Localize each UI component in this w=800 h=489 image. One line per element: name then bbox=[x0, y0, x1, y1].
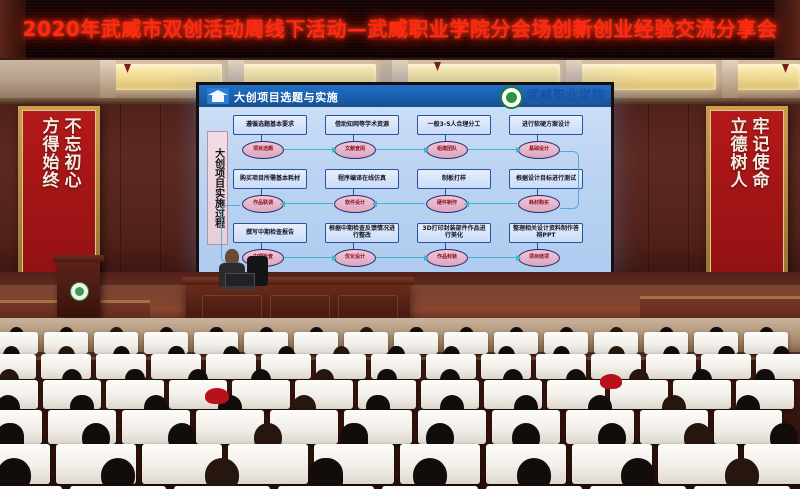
flow-row: 购买项目所需基本耗材作品联调程序编译在线仿真软件设计制板打样硬件制作根据设计目标… bbox=[233, 169, 605, 221]
flow-node: 借助知网等学术资源文献查阅 bbox=[325, 115, 399, 135]
audience-seat bbox=[206, 354, 256, 379]
flow-node: 3D打印封装部件作品进行美化作品封装 bbox=[417, 223, 491, 243]
slide-body: 大创项目实施过程 遵循选题基本要求项目选题借助知网等学术资源文献查阅一般3-5人… bbox=[199, 107, 611, 275]
podium-top bbox=[53, 255, 104, 262]
audience-member bbox=[101, 458, 135, 489]
flow-node: 一般3-5人合理分工组建团队 bbox=[417, 115, 491, 135]
flow-node: 遵循选题基本要求项目选题 bbox=[233, 115, 307, 135]
flow-node-stage: 耗材购买 bbox=[518, 195, 560, 213]
flow-node-box: 一般3-5人合理分工 bbox=[417, 115, 491, 135]
audience-seat bbox=[294, 332, 338, 354]
flow-node: 制板打样硬件制作 bbox=[417, 169, 491, 189]
college-name-en: WUWEI OCCUPATIONAL COLLEGE bbox=[527, 102, 605, 105]
projection-screen: 大创项目选题与实施 武威职业学院 WUWEI OCCUPATIONAL COLL… bbox=[196, 82, 614, 278]
flow-arrow bbox=[284, 257, 333, 258]
flow-node: 购买项目所需基本耗材作品联调 bbox=[233, 169, 307, 189]
flow-node: 根据中期检查反馈情况进行整改优化设计 bbox=[325, 223, 399, 243]
flow-wrap-connector-right bbox=[560, 151, 579, 209]
audience-member-red-bow bbox=[600, 374, 622, 389]
flow-node-box: 遵循选题基本要求 bbox=[233, 115, 307, 135]
flow-node-box: 进行软硬方案设计 bbox=[509, 115, 583, 135]
flow-node-box: 3D打印封装部件作品进行美化 bbox=[417, 223, 491, 243]
flow-node-stage: 优化设计 bbox=[334, 249, 376, 267]
flow-node-stage: 基础设计 bbox=[518, 141, 560, 159]
flow-row: 遵循选题基本要求项目选题借助知网等学术资源文献查阅一般3-5人合理分工组建团队进… bbox=[233, 115, 605, 167]
flow-node-box: 借助知网等学术资源 bbox=[325, 115, 399, 135]
led-banner-text: 2020年武威市双创活动周线下活动—武威职业学院分会场创新创业经验交流分享会 bbox=[0, 13, 800, 42]
ceiling-light-panel bbox=[730, 64, 800, 90]
flow-node: 进行软硬方案设计基础设计 bbox=[509, 115, 583, 135]
audience-member bbox=[517, 458, 551, 489]
flow-node-box: 制板打样 bbox=[417, 169, 491, 189]
flow-arrow bbox=[468, 257, 517, 258]
college-seal-icon bbox=[500, 86, 523, 109]
led-banner: 2020年武威市双创活动周线下活动—武威职业学院分会场创新创业经验交流分享会 bbox=[0, 0, 800, 60]
slide-header-bar: 大创项目选题与实施 武威职业学院 WUWEI OCCUPATIONAL COLL… bbox=[199, 85, 611, 107]
flow-node: 程序编译在线仿真软件设计 bbox=[325, 169, 399, 189]
audience-seat bbox=[646, 354, 696, 379]
graduation-cap-icon bbox=[207, 88, 229, 104]
flow-node-stage: 作品封装 bbox=[426, 249, 468, 267]
flow-node-stage: 项目选题 bbox=[242, 141, 284, 159]
audience-area bbox=[0, 318, 800, 489]
college-logo: 武威职业学院 WUWEI OCCUPATIONAL COLLEGE bbox=[500, 86, 605, 109]
slide-title: 大创项目选题与实施 bbox=[234, 89, 338, 105]
flow-node-stage: 硬件制作 bbox=[426, 195, 468, 213]
flow-node-box: 撰写中期检查报告 bbox=[233, 223, 307, 243]
flow-node-stage: 文献查阅 bbox=[334, 141, 376, 159]
audience-seat bbox=[344, 332, 388, 354]
flow-node-box: 购买项目所需基本耗材 bbox=[233, 169, 307, 189]
audience-member bbox=[621, 458, 655, 489]
flow-arrow bbox=[284, 149, 333, 150]
process-flowchart: 遵循选题基本要求项目选题借助知网等学术资源文献查阅一般3-5人合理分工组建团队进… bbox=[233, 113, 605, 271]
presentation-slide: 大创项目选题与实施 武威职业学院 WUWEI OCCUPATIONAL COLL… bbox=[199, 85, 611, 275]
flow-node-box: 程序编译在线仿真 bbox=[325, 169, 399, 189]
flow-node-stage: 作品联调 bbox=[242, 195, 284, 213]
flow-arrow bbox=[284, 203, 333, 204]
flow-row: 撰写中期检查报告中期检查根据中期检查反馈情况进行整改优化设计3D打印封装部件作品… bbox=[233, 223, 605, 275]
stage-step-edge-right bbox=[640, 296, 800, 299]
audience-member bbox=[725, 458, 759, 489]
laptop-icon bbox=[222, 273, 256, 289]
flow-arrow bbox=[468, 149, 517, 150]
flow-arrow bbox=[376, 149, 425, 150]
flow-arrow bbox=[468, 203, 517, 204]
flow-node: 整理相关设计资料制作答辩PPT项目结项 bbox=[509, 223, 583, 243]
flow-arrow bbox=[376, 257, 425, 258]
flow-arrow bbox=[376, 203, 425, 204]
audience-member-red-hood bbox=[205, 388, 229, 404]
speaker-podium bbox=[57, 260, 100, 317]
flow-node-box: 根据中期检查反馈情况进行整改 bbox=[325, 223, 399, 243]
audience-member bbox=[205, 458, 239, 489]
college-name-cn: 武威职业学院 bbox=[527, 89, 605, 101]
flow-node-stage: 组建团队 bbox=[426, 141, 468, 159]
audience-member bbox=[309, 458, 343, 489]
flow-node-box: 整理相关设计资料制作答辩PPT bbox=[509, 223, 583, 243]
audience-seat bbox=[228, 444, 308, 484]
flow-node-stage: 软件设计 bbox=[334, 195, 376, 213]
conference-hall-photo: 2020年武威市双创活动周线下活动—武威职业学院分会场创新创业经验交流分享会 不… bbox=[0, 0, 800, 489]
audience-member bbox=[0, 458, 31, 489]
flow-node-stage: 项目结项 bbox=[518, 249, 560, 267]
flow-node: 撰写中期检查报告中期检查 bbox=[233, 223, 307, 243]
audience-member bbox=[413, 458, 447, 489]
desk-top-surface bbox=[182, 277, 414, 285]
college-emblem-icon bbox=[70, 282, 89, 301]
